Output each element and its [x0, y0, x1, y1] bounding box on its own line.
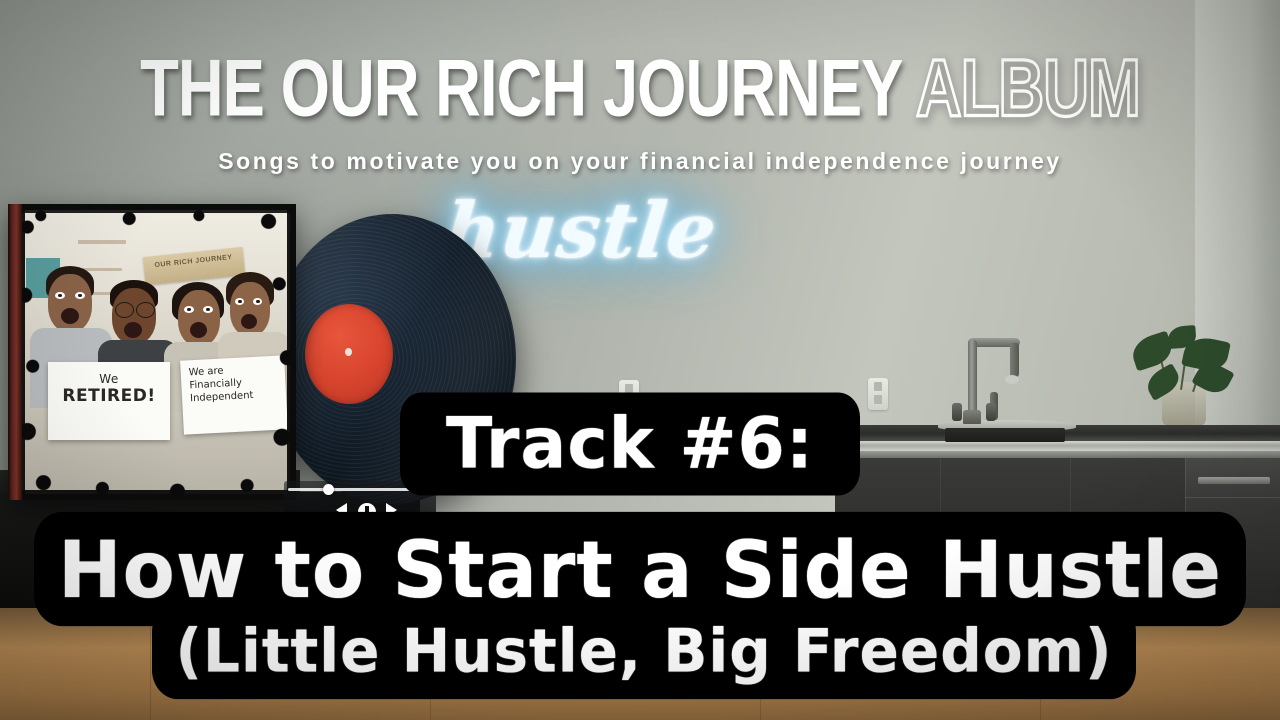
- page-title-plain: THE OUR RICH JOURNEY: [140, 42, 902, 132]
- we-retired-sign-line1: We: [48, 372, 170, 386]
- album-photo-shelf: [82, 268, 122, 271]
- track-title-label: How to Start a Side Hustle: [58, 523, 1222, 615]
- track-subtitle-box: (Little Hustle, Big Freedom): [152, 603, 1136, 699]
- faucet-sprayer: [1010, 343, 1019, 377]
- track-number-label: Track #6:: [446, 403, 814, 484]
- dishwasher-seam: [1185, 497, 1280, 498]
- eyeglasses: [136, 302, 155, 318]
- track-subtitle-label: (Little Hustle, Big Freedom): [175, 616, 1112, 686]
- album-cover: OUR RICH JOURNEY: [8, 204, 296, 500]
- person-eye: [75, 292, 85, 299]
- sink-knob: [952, 403, 962, 421]
- counter-steel-edge: [835, 441, 1280, 451]
- video-thumbnail: hustle OUR RICH JOURNEY: [0, 0, 1280, 720]
- person-eye: [203, 306, 213, 313]
- faucet-base: [963, 410, 981, 424]
- vinyl-spindle-hole: [345, 348, 352, 356]
- faucet-aerator: [1005, 375, 1019, 384]
- page-title-album-outline: ALBUM: [916, 42, 1140, 132]
- we-retired-sign: We RETIRED!: [48, 362, 170, 440]
- faucet-neck: [968, 340, 977, 418]
- wall-outlet-right: [868, 378, 888, 410]
- financially-independent-sign: We are Financially Independent: [180, 355, 288, 434]
- dishwasher-handle: [1198, 477, 1270, 484]
- eyeglasses: [115, 302, 134, 318]
- counter-steel-edge-lower: [835, 451, 1280, 458]
- person-eye: [184, 306, 194, 313]
- person-eye: [235, 298, 244, 305]
- person-mouth: [241, 314, 257, 329]
- header-block: THE OUR RICH JOURNEYALBUM Songs to motiv…: [0, 46, 1280, 175]
- album-cover-spine: [8, 204, 22, 500]
- sink-basin: [945, 428, 1065, 442]
- person-mouth: [124, 322, 142, 338]
- person-mouth: [61, 308, 79, 324]
- we-retired-sign-line2: RETIRED!: [48, 386, 170, 406]
- album-cover-photo: OUR RICH JOURNEY: [22, 210, 290, 494]
- person-eye: [253, 298, 262, 305]
- page-title: THE OUR RICH JOURNEYALBUM: [26, 46, 1255, 129]
- track-number-box: Track #6:: [400, 392, 860, 495]
- album-photo-shelf: [78, 240, 126, 244]
- sink-knob: [986, 403, 996, 421]
- person-mouth: [190, 322, 207, 338]
- page-subtitle: Songs to motivate you on your financial …: [0, 148, 1280, 175]
- person-eye: [55, 292, 65, 299]
